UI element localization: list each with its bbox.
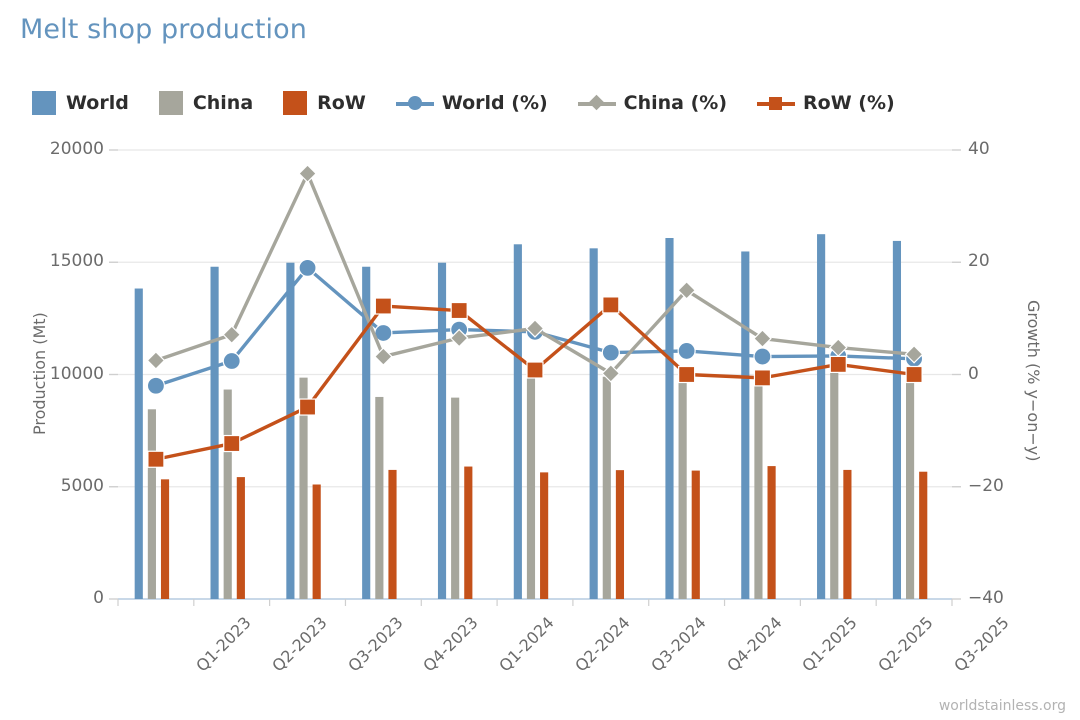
bar-row-Q4‑2024[interactable]	[692, 471, 700, 599]
bar-china-Q1‑2023[interactable]	[148, 409, 156, 599]
bar-world-Q2‑2023[interactable]	[211, 267, 219, 599]
marker-circle-Q4‑2024[interactable]	[678, 342, 695, 359]
bar-world-Q2‑2024[interactable]	[514, 244, 522, 599]
marker-square-Q1‑2025[interactable]	[754, 370, 770, 386]
bar-row-Q2‑2023[interactable]	[237, 477, 245, 599]
bar-row-Q4‑2023[interactable]	[388, 470, 396, 599]
marker-square-Q4‑2023[interactable]	[375, 298, 391, 314]
y-axis-right-tick-label: 20	[968, 251, 990, 271]
bar-china-Q1‑2025[interactable]	[754, 379, 762, 599]
bar-world-Q4‑2024[interactable]	[665, 238, 673, 599]
bar-china-Q3‑2024[interactable]	[603, 377, 611, 599]
y-axis-left-title: Production (Mt)	[30, 312, 49, 435]
bar-china-Q2‑2025[interactable]	[830, 364, 838, 600]
bar-series-row	[161, 466, 927, 599]
y-axis-left-tick-label: 10000	[14, 364, 104, 384]
bar-china-Q2‑2024[interactable]	[527, 373, 535, 599]
bar-world-Q1‑2025[interactable]	[741, 251, 749, 599]
marker-circle-Q1‑2025[interactable]	[754, 348, 771, 365]
y-axis-right-tick-label: −40	[968, 588, 1004, 608]
bar-series-china	[148, 364, 914, 600]
bar-row-Q2‑2024[interactable]	[540, 472, 548, 599]
y-axis-left-tick-label: 5000	[14, 476, 104, 496]
bar-row-Q1‑2024[interactable]	[464, 467, 472, 599]
bar-row-Q2‑2025[interactable]	[843, 470, 851, 599]
marker-diamond-Q3‑2023[interactable]	[299, 165, 316, 182]
bar-world-Q3‑2023[interactable]	[286, 263, 294, 599]
bar-china-Q3‑2025[interactable]	[906, 375, 914, 599]
bar-china-Q1‑2024[interactable]	[451, 398, 459, 599]
bar-row-Q3‑2025[interactable]	[919, 472, 927, 599]
y-axis-left-tick-label: 20000	[14, 139, 104, 159]
y-axis-right-tick-label: −20	[968, 476, 1004, 496]
y-axis-right-title: Growth (% y−on−y)	[1024, 300, 1043, 461]
marker-square-Q4‑2024[interactable]	[679, 367, 695, 383]
marker-diamond-Q1‑2023[interactable]	[147, 352, 164, 369]
bar-china-Q4‑2023[interactable]	[375, 397, 383, 599]
bar-world-Q3‑2025[interactable]	[893, 241, 901, 599]
bar-row-Q3‑2024[interactable]	[616, 470, 624, 599]
bar-china-Q2‑2023[interactable]	[224, 390, 232, 599]
marker-square-Q2‑2025[interactable]	[830, 356, 846, 372]
marker-square-Q3‑2025[interactable]	[906, 367, 922, 383]
bar-world-Q1‑2023[interactable]	[135, 289, 143, 599]
y-axis-left-tick-label: 15000	[14, 251, 104, 271]
marker-circle-Q2‑2023[interactable]	[223, 353, 240, 370]
bar-world-Q3‑2024[interactable]	[590, 248, 598, 599]
bar-row-Q1‑2023[interactable]	[161, 479, 169, 599]
marker-circle-Q3‑2024[interactable]	[602, 344, 619, 361]
bar-series-world	[135, 234, 901, 599]
marker-circle-Q3‑2023[interactable]	[299, 259, 316, 276]
y-axis-left-tick-label: 0	[14, 588, 104, 608]
chart-root: Melt shop production WorldChinaRoWWorld …	[0, 0, 1080, 720]
marker-square-Q2‑2023[interactable]	[224, 436, 240, 452]
bar-china-Q4‑2024[interactable]	[679, 373, 687, 599]
marker-square-Q3‑2024[interactable]	[603, 297, 619, 313]
marker-square-Q3‑2023[interactable]	[300, 399, 316, 415]
watermark: worldstainless.org	[939, 698, 1066, 714]
y-axis-right-tick-label: 0	[968, 364, 979, 384]
bar-row-Q1‑2025[interactable]	[768, 466, 776, 599]
marker-square-Q1‑2024[interactable]	[451, 303, 467, 319]
marker-diamond-Q1‑2025[interactable]	[754, 330, 771, 347]
line-series-china	[147, 165, 922, 382]
chart-plot-area	[0, 0, 1080, 720]
marker-diamond-Q2‑2023[interactable]	[223, 326, 240, 343]
bar-row-Q3‑2023[interactable]	[313, 485, 321, 600]
bar-world-Q1‑2024[interactable]	[438, 263, 446, 599]
y-axis-right-tick-label: 40	[968, 139, 990, 159]
line-path	[156, 174, 914, 374]
marker-circle-Q1‑2023[interactable]	[147, 377, 164, 394]
bar-world-Q2‑2025[interactable]	[817, 234, 825, 599]
marker-diamond-Q4‑2023[interactable]	[375, 348, 392, 365]
marker-square-Q2‑2024[interactable]	[527, 362, 543, 378]
marker-square-Q1‑2023[interactable]	[148, 451, 164, 467]
